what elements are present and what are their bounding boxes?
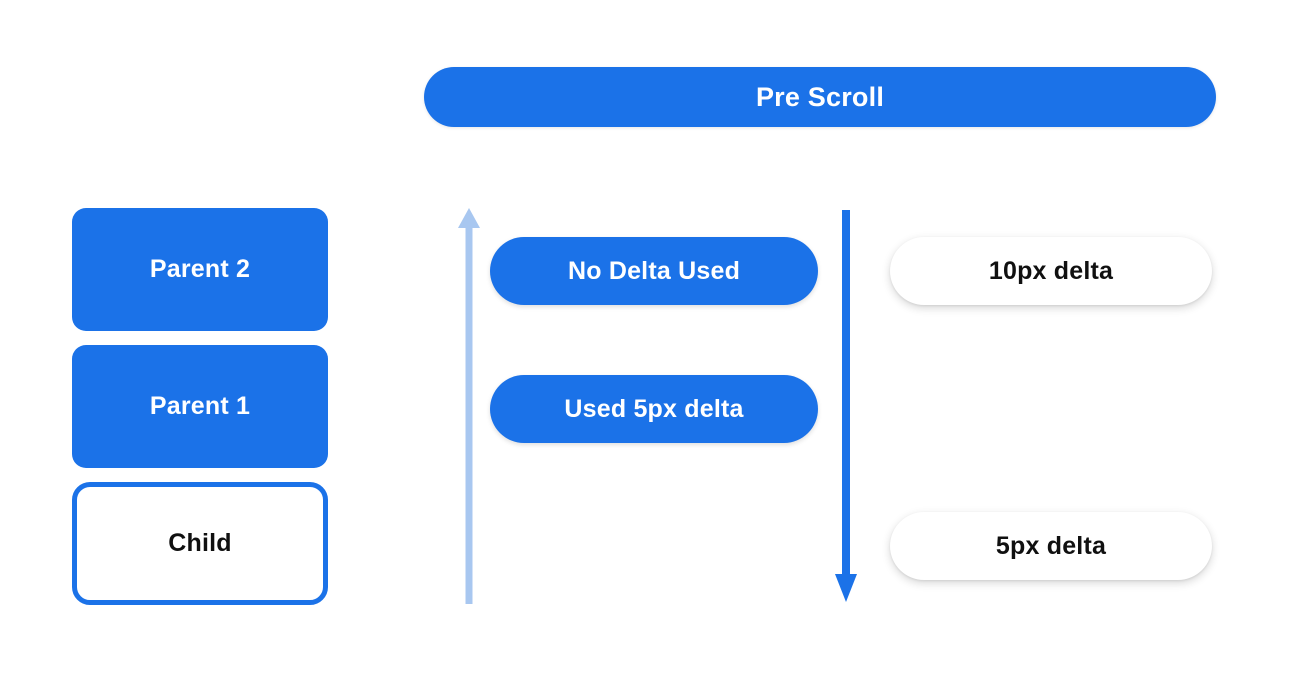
down-arrow-icon <box>830 210 864 602</box>
stack-box-parent-2-label: Parent 2 <box>150 255 250 284</box>
pill-used-5px-delta-label: Used 5px delta <box>564 395 743 424</box>
pill-10px-delta: 10px delta <box>890 237 1212 305</box>
pill-10px-delta-label: 10px delta <box>989 257 1113 286</box>
up-arrow-icon <box>452 208 486 604</box>
view-hierarchy-stack: Parent 2 Parent 1 Child <box>72 208 328 605</box>
stack-box-parent-1-label: Parent 1 <box>150 392 250 421</box>
pill-no-delta-used-label: No Delta Used <box>568 257 740 286</box>
stack-box-child: Child <box>72 482 328 605</box>
stack-box-child-label: Child <box>168 529 232 558</box>
pill-no-delta-used: No Delta Used <box>490 237 818 305</box>
pill-5px-delta: 5px delta <box>890 512 1212 580</box>
pre-scroll-banner-label: Pre Scroll <box>756 82 884 113</box>
pre-scroll-banner: Pre Scroll <box>424 67 1216 127</box>
diagram-canvas: Pre Scroll Parent 2 Parent 1 Child No De… <box>0 0 1312 680</box>
pill-used-5px-delta: Used 5px delta <box>490 375 818 443</box>
stack-box-parent-1: Parent 1 <box>72 345 328 468</box>
stack-box-parent-2: Parent 2 <box>72 208 328 331</box>
pill-5px-delta-label: 5px delta <box>996 532 1106 561</box>
